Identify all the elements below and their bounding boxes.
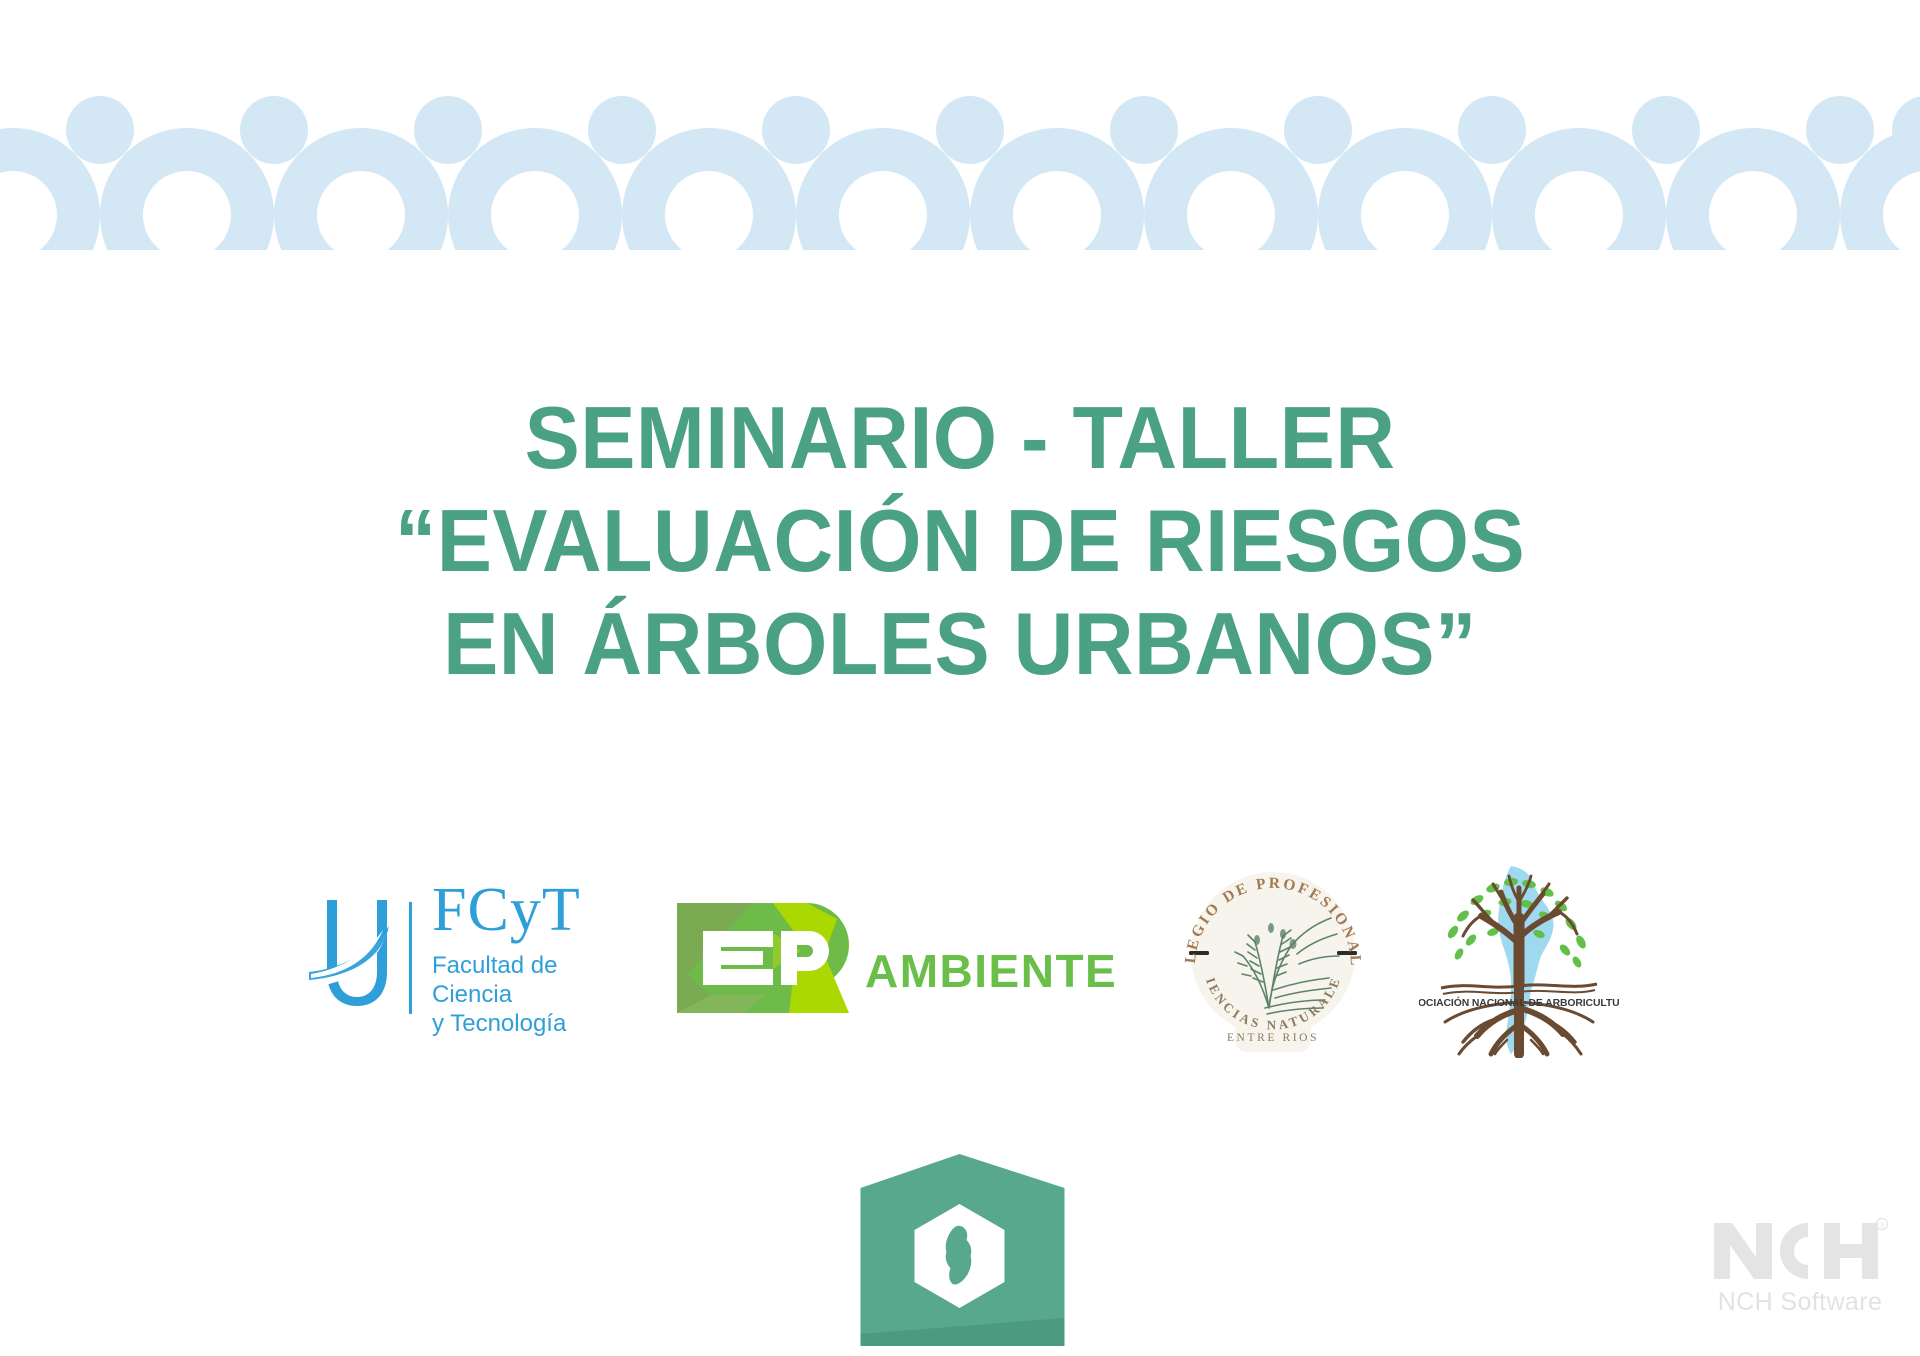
colegio-ribbon-text: ENTRE RIOS <box>1227 1032 1319 1044</box>
entre-rios-shield-emblem <box>853 1152 1068 1351</box>
uner-u-icon <box>301 894 393 1022</box>
fcyt-acronym: FCyT <box>432 879 631 941</box>
slide-title: SEMINARIO - TALLER “EVALUACIÓN DE RIESGO… <box>0 386 1920 695</box>
er-ambiente-word: AMBIENTE <box>865 944 1117 998</box>
sponsor-logos-row: FCyT Facultad de Ciencia y Tecnología <box>0 848 1920 1068</box>
title-line-2: “EVALUACIÓN DE RIESGOS <box>58 489 1863 592</box>
nch-logo-icon: ® <box>1712 1217 1888 1285</box>
arboricultura-caption: ASOCIACIÓN NACIONAL DE ARBORICULTURA <box>1419 996 1619 1009</box>
decorative-banner <box>0 78 1920 250</box>
colegio-seal-icon: COLEGIO DE PROFESIONALES CIENCIAS NATURA… <box>1173 858 1373 1058</box>
banner-ring-pattern <box>0 78 1920 250</box>
nch-watermark: ® NCH Software <box>1702 1217 1898 1317</box>
er-monogram-icon <box>677 903 849 1013</box>
logo-er-ambiente: AMBIENTE <box>677 893 1127 1023</box>
fcyt-subtitle-line-1: Facultad de Ciencia <box>432 951 631 1009</box>
tree-with-roots-icon: ASOCIACIÓN NACIONAL DE ARBORICULTURA <box>1419 858 1619 1058</box>
title-line-1: SEMINARIO - TALLER <box>58 386 1863 489</box>
fcyt-subtitle-line-2: y Tecnología <box>432 1009 631 1038</box>
nch-watermark-caption: NCH Software <box>1702 1287 1898 1317</box>
title-line-3: EN ÁRBOLES URBANOS” <box>58 592 1863 695</box>
shield-emblem-icon <box>853 1152 1068 1351</box>
logo-colegio-profesionales: COLEGIO DE PROFESIONALES CIENCIAS NATURA… <box>1173 858 1373 1058</box>
logo-divider <box>409 902 412 1014</box>
logo-asociacion-arboricultura: ASOCIACIÓN NACIONAL DE ARBORICULTURA <box>1419 858 1619 1058</box>
logo-fcyt: FCyT Facultad de Ciencia y Tecnología <box>301 888 631 1028</box>
registered-mark: ® <box>1879 1222 1885 1230</box>
